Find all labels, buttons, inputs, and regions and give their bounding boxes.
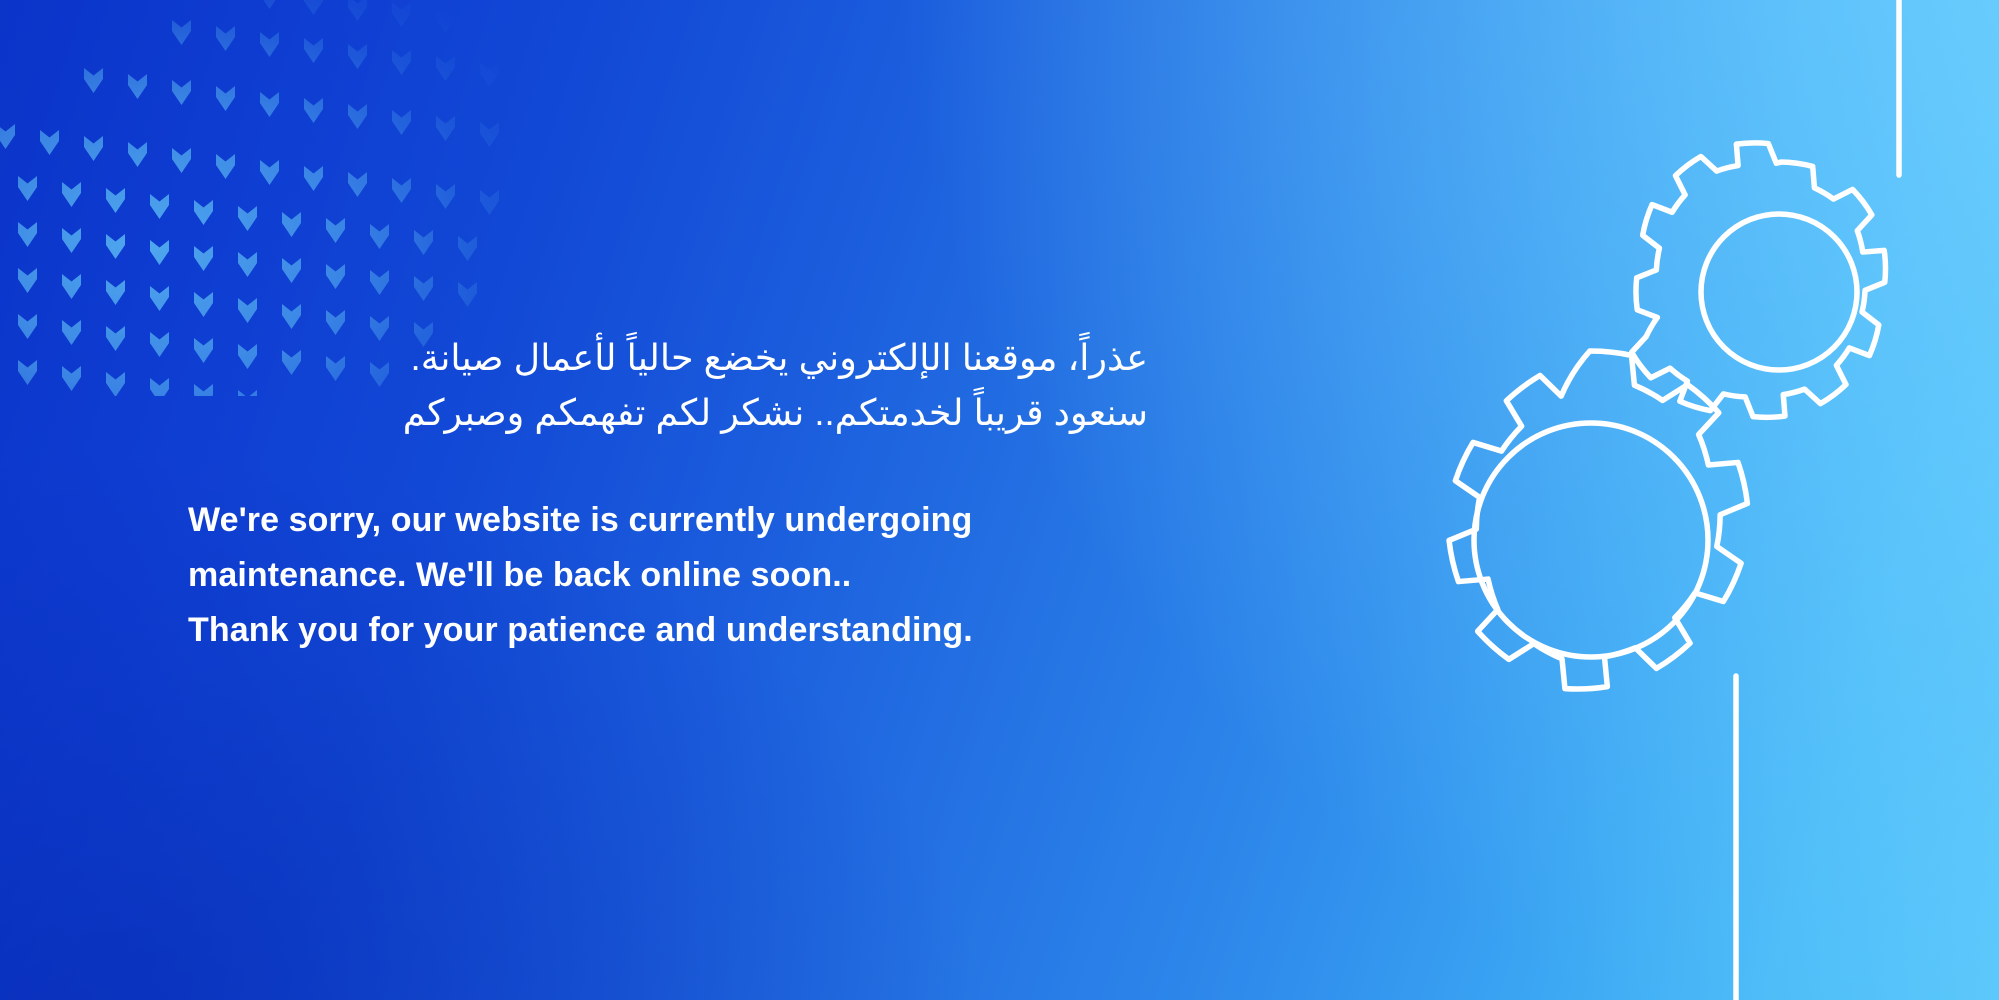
arabic-message: عذراً، موقعنا الإلكتروني يخضع حالياً لأع…: [208, 330, 1148, 441]
maintenance-page: عذراً، موقعنا الإلكتروني يخضع حالياً لأع…: [0, 0, 1999, 1000]
arabic-line-1: عذراً، موقعنا الإلكتروني يخضع حالياً لأع…: [208, 330, 1148, 385]
message-block: عذراً، موقعنا الإلكتروني يخضع حالياً لأع…: [188, 330, 1148, 658]
english-line-1: We're sorry, our website is currently un…: [188, 493, 1148, 548]
arabic-line-2: سنعود قريباً لخدمتكم.. نشكر لكم تفهمكم و…: [208, 385, 1148, 440]
english-line-3: Thank you for your patience and understa…: [188, 603, 1148, 658]
english-line-2: maintenance. We'll be back online soon..: [188, 548, 1148, 603]
english-message: We're sorry, our website is currently un…: [188, 493, 1148, 658]
